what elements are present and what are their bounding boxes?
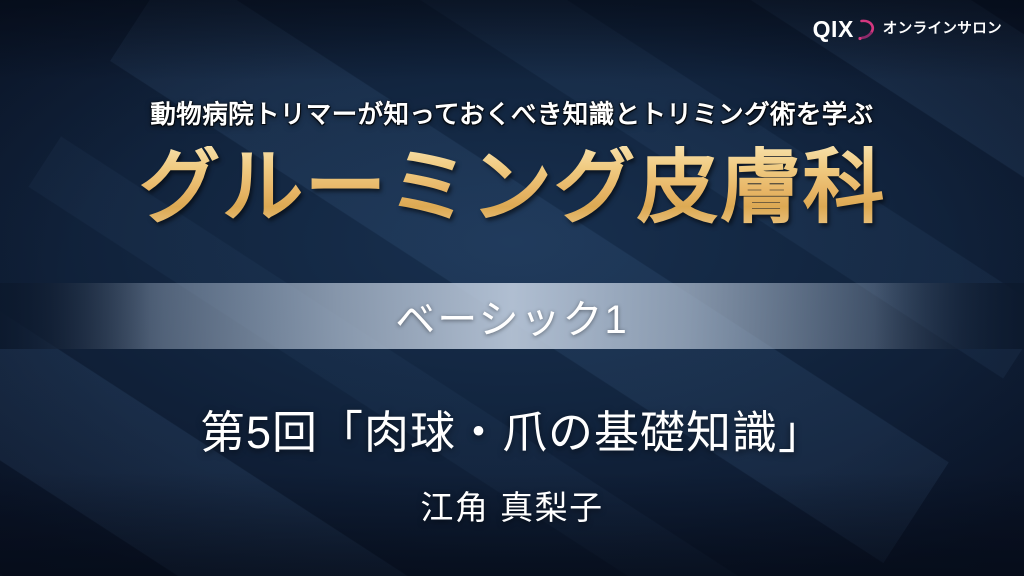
- main-title-container: グルーミング皮膚科: [0, 146, 1024, 228]
- brand-logo[interactable]: QIX オンラインサロン: [813, 18, 1002, 41]
- presenter-name: 江角 真梨子: [0, 481, 1024, 529]
- level-band-label: ベーシック1: [0, 283, 1024, 349]
- episode-title: 第5回「肉球・爪の基礎知識」: [0, 396, 1024, 461]
- brand-logo-subtitle: オンラインサロン: [883, 22, 1002, 37]
- title-slide: QIX オンラインサロン 動物病院トリマーが知っておくべき知識とトリミング術を学…: [0, 0, 1024, 576]
- swoosh-icon: [857, 19, 876, 41]
- catch-copy: 動物病院トリマーが知っておくべき知識とトリミング術を学ぶ: [0, 94, 1024, 131]
- brand-logo-wordmark: QIX: [813, 18, 854, 41]
- main-title: グルーミング皮膚科: [138, 146, 885, 228]
